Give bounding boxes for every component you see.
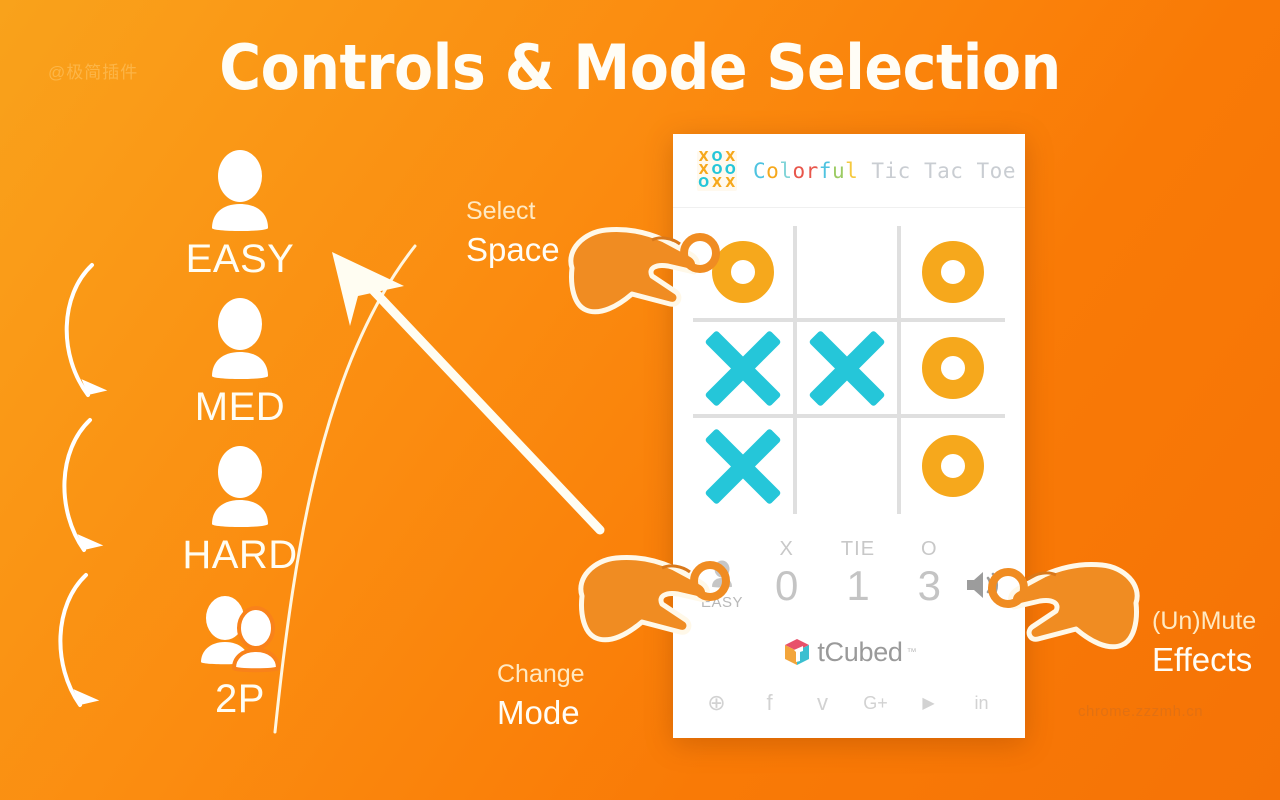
score-value-o: 3 (894, 562, 965, 610)
app-title-letter-3: o (792, 159, 805, 183)
watermark-bottom-right: chrome.zzzmh.cn (1078, 703, 1203, 720)
mark-o-icon (922, 435, 984, 497)
youtube-icon[interactable]: ▶ (916, 690, 942, 716)
app-title: Colorful Tic Tac Toe (753, 159, 1016, 183)
callout-main-label: Mode (497, 691, 585, 735)
person-icon (204, 148, 276, 236)
brand-trademark: ™ (907, 647, 917, 658)
facebook-icon[interactable]: f (757, 690, 783, 716)
callout-change-mode: Change Mode (497, 657, 585, 735)
social-links[interactable]: ⊕fᴠG+▶in (673, 690, 1025, 716)
app-title-letter-4: r (806, 159, 819, 183)
hand-tap-icon-select-space (560, 210, 730, 330)
twitter-icon[interactable]: ᴠ (810, 690, 836, 716)
board-cell-4[interactable] (797, 322, 901, 418)
score-headers: X TIE O (751, 538, 965, 561)
app-title-letter-0: C (753, 159, 766, 183)
mark-o-icon (922, 337, 984, 399)
mode-cycle-arrows (40, 245, 240, 755)
app-logo-icon: XOXXOOOXX (697, 151, 737, 191)
logo-cell-4: O (710, 164, 723, 177)
googleplus-icon[interactable]: G+ (863, 690, 889, 716)
linkedin-icon[interactable]: in (969, 690, 995, 716)
app-title-letter-1: o (766, 159, 779, 183)
score-values: 0 1 3 (751, 562, 965, 610)
logo-cell-6: O (697, 177, 710, 190)
hand-tap-icon-change-mode (570, 536, 740, 658)
logo-cell-5: O (724, 164, 737, 177)
callout-top-label: Change (497, 657, 585, 691)
page-title: Controls & Mode Selection (51, 32, 1229, 104)
mark-x-icon (706, 429, 780, 503)
logo-cell-8: X (724, 177, 737, 190)
callout-unmute-effects: (Un)Mute Effects (1152, 604, 1256, 682)
hand-tap-icon-unmute (978, 543, 1148, 665)
logo-cell-3: X (697, 164, 710, 177)
score-header-tie: TIE (822, 538, 893, 561)
logo-cell-2: X (724, 151, 737, 164)
game-board[interactable] (693, 226, 1005, 514)
board-cell-8[interactable] (901, 418, 1005, 514)
score-value-tie: 1 (822, 562, 893, 610)
app-title-letter-5: f (819, 159, 832, 183)
logo-cell-1: O (710, 151, 723, 164)
callout-main-label: Effects (1152, 638, 1256, 682)
score-value-x: 0 (751, 562, 822, 610)
app-header: XOXXOOOXX Colorful Tic Tac Toe (673, 134, 1025, 208)
poster-canvas: @极简插件 chrome.zzzmh.cn Controls & Mode Se… (0, 0, 1280, 800)
mark-x-icon (706, 331, 780, 405)
board-cell-5[interactable] (901, 322, 1005, 418)
board-cell-6[interactable] (693, 418, 797, 514)
app-title-letter-6: u (832, 159, 845, 183)
board-cell-1[interactable] (797, 226, 901, 322)
board-cell-7[interactable] (797, 418, 901, 514)
mark-o-icon (922, 241, 984, 303)
globe-icon[interactable]: ⊕ (704, 690, 730, 716)
callout-main-label: Space (466, 228, 560, 272)
app-title-letter-7: l (845, 159, 858, 183)
callout-top-label: (Un)Mute (1152, 604, 1256, 638)
callout-select-space: Select Space (466, 194, 560, 272)
score-header-o: O (894, 538, 965, 561)
logo-cell-7: X (710, 177, 723, 190)
tcubed-logo-icon (781, 636, 813, 668)
board-cell-3[interactable] (693, 322, 797, 418)
mark-x-icon (810, 331, 884, 405)
app-title-plain: Tic Tac Toe (858, 159, 1016, 183)
brand-name: tCubed (817, 637, 902, 668)
callout-top-label: Select (466, 194, 560, 228)
app-title-letter-2: l (779, 159, 792, 183)
board-cell-2[interactable] (901, 226, 1005, 322)
app-title-colored: Colorful (753, 159, 858, 183)
score-header-x: X (751, 538, 822, 561)
logo-cell-0: X (697, 151, 710, 164)
